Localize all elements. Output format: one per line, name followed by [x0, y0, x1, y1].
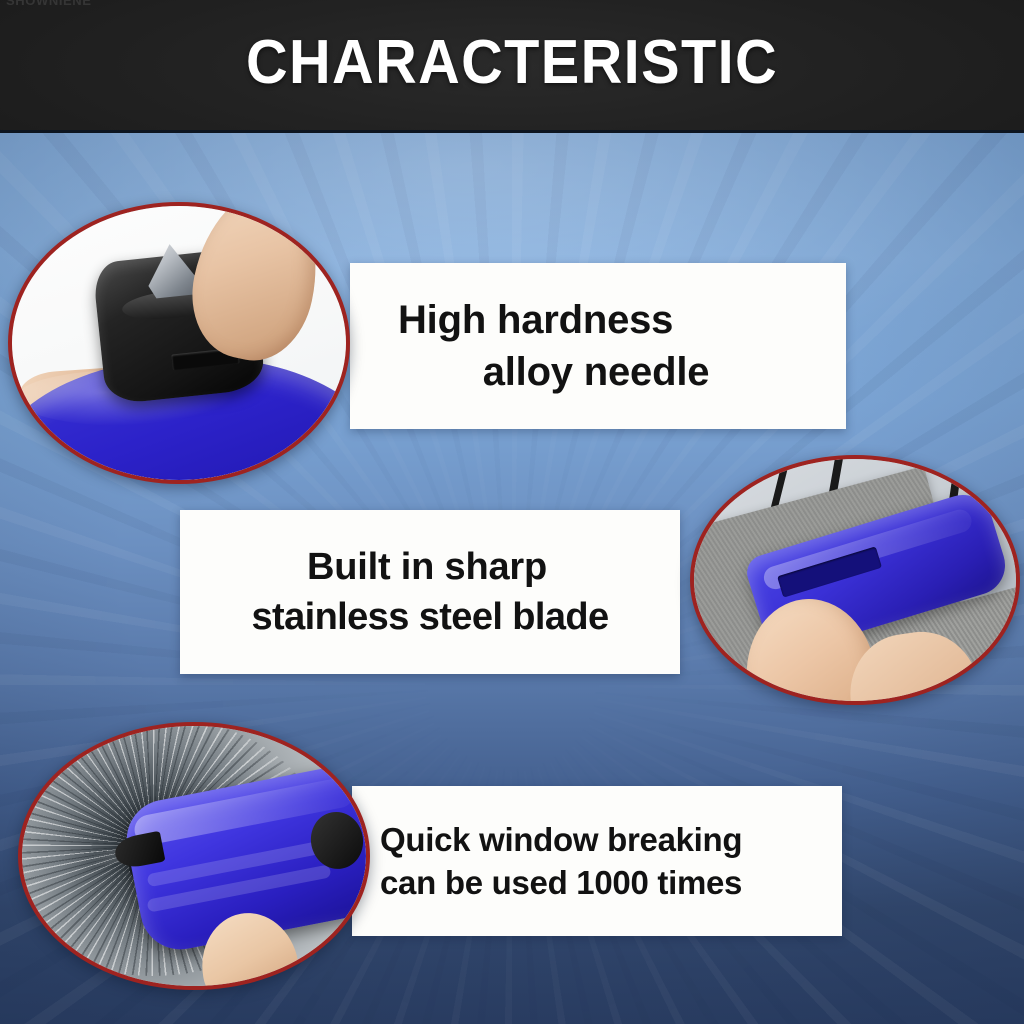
caption-line-2: alloy needle	[398, 346, 846, 398]
feature-caption-blade: Built in sharp stainless steel blade	[180, 510, 680, 674]
caption-line-2: can be used 1000 times	[380, 861, 842, 904]
product-infographic-poster: SHOWNIENE CHARACTERISTIC High hardness a…	[0, 0, 1024, 1024]
caption-line-1: Built in sharp	[180, 542, 680, 592]
photo-inner-breaker	[22, 726, 366, 986]
caption-line-2: stainless steel blade	[180, 592, 680, 642]
caption-line-1: High hardness	[398, 294, 846, 346]
brand-watermark: SHOWNIENE	[6, 0, 92, 8]
feature-photo-breaker	[18, 722, 370, 990]
photo-inner-needle	[12, 206, 346, 480]
feature-caption-needle: High hardness alloy needle	[350, 263, 846, 429]
feature-photo-needle	[8, 202, 350, 484]
feature-photo-blade	[690, 455, 1020, 705]
feature-caption-breaker: Quick window breaking can be used 1000 t…	[352, 786, 842, 936]
caption-line-1: Quick window breaking	[380, 818, 842, 861]
page-title: CHARACTERISTIC	[36, 30, 988, 95]
photo-inner-blade	[694, 459, 1016, 701]
header-bar: SHOWNIENE CHARACTERISTIC	[0, 0, 1024, 133]
